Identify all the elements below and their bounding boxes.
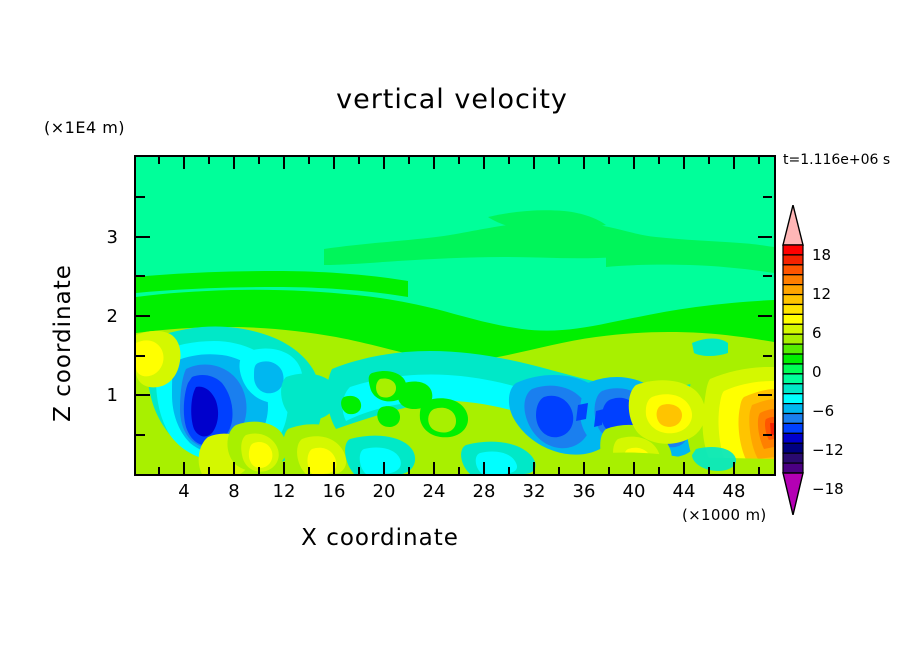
x-axis-unit-label: (×1000 m) [682, 506, 767, 524]
colorbar-band [783, 304, 803, 314]
x-axis-title: X coordinate [0, 525, 760, 551]
colorbar-band [783, 354, 803, 364]
x-tick-label: 24 [414, 481, 454, 502]
colorbar-band [783, 394, 803, 404]
x-tick-label: 28 [464, 481, 504, 502]
colorbar-swatches[interactable] [781, 205, 805, 515]
contour-plot-area [134, 155, 776, 476]
x-tick-label: 8 [214, 481, 254, 502]
colorbar-tick-label: −12 [812, 441, 844, 459]
timestamp-annotation: t=1.116e+06 s [783, 152, 890, 168]
colorbar-tick-label: 12 [812, 285, 831, 303]
colorbar-band [783, 384, 803, 394]
colorbar-band [783, 324, 803, 334]
y-axis-title: Z coordinate [50, 228, 76, 458]
colorbar-tick-label: 6 [812, 324, 822, 342]
colorbar-band [783, 265, 803, 275]
colorbar-band [783, 374, 803, 384]
colorbar[interactable] [781, 205, 805, 515]
x-tick-label: 48 [714, 481, 754, 502]
colorbar-band [783, 404, 803, 414]
colorbar-band [783, 334, 803, 344]
colorbar-tick-label: −18 [812, 480, 844, 498]
colorbar-band [783, 453, 803, 463]
x-tick-label: 36 [564, 481, 604, 502]
x-tick-label: 40 [614, 481, 654, 502]
colorbar-tick-label: −6 [812, 402, 834, 420]
colorbar-band [783, 255, 803, 265]
x-tick-label: 12 [264, 481, 304, 502]
colorbar-tick-label: 18 [812, 246, 831, 264]
y-axis-unit-label: (×1E4 m) [44, 118, 125, 137]
colorbar-band [783, 295, 803, 305]
colorbar-band [783, 414, 803, 424]
page-title: vertical velocity [0, 84, 904, 115]
colorbar-tick-label: 0 [812, 363, 822, 381]
x-tick-label: 4 [164, 481, 204, 502]
x-tick-label: 44 [664, 481, 704, 502]
colorbar-band [783, 285, 803, 295]
y-tick-label: 2 [96, 306, 118, 327]
colorbar-band [783, 463, 803, 473]
colorbar-band [783, 344, 803, 354]
colorbar-band [783, 275, 803, 285]
x-tick-label: 32 [514, 481, 554, 502]
colorbar-band [783, 364, 803, 374]
colorbar-band [783, 443, 803, 453]
colorbar-band [783, 433, 803, 443]
y-tick-label: 3 [96, 227, 118, 248]
x-tick-label: 16 [314, 481, 354, 502]
colorbar-band [783, 314, 803, 324]
colorbar-band [783, 423, 803, 433]
y-tick-label: 1 [96, 385, 118, 406]
x-tick-label: 20 [364, 481, 404, 502]
colorbar-band [783, 245, 803, 255]
vertical-velocity-field [136, 157, 774, 474]
figure-canvas: vertical velocity (×1E4 m) t=1.116e+06 s [0, 0, 904, 654]
